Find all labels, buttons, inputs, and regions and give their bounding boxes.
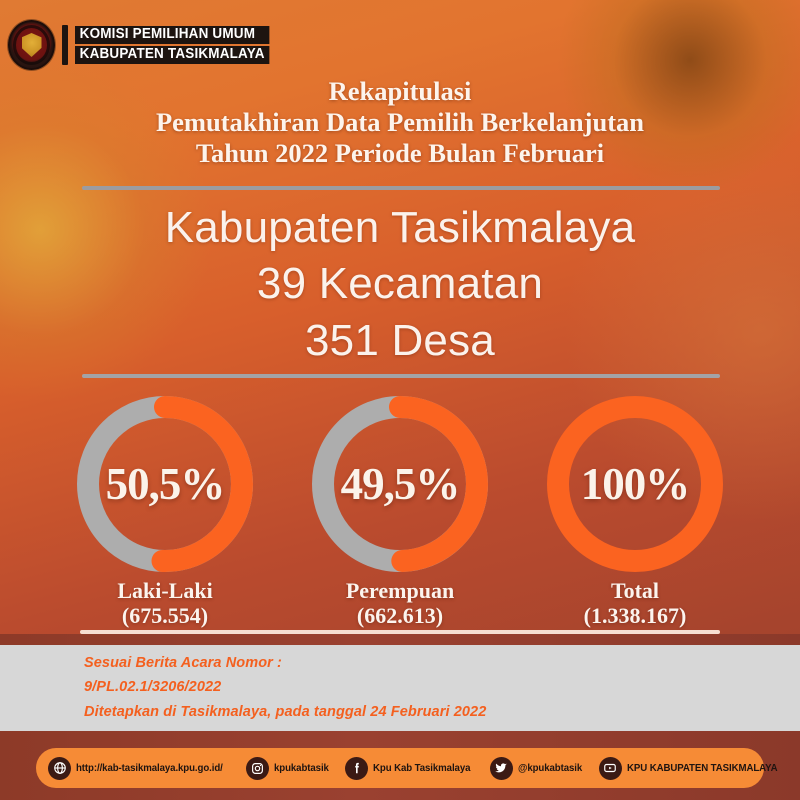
social-item-instagram[interactable]: kpukabtasik xyxy=(246,757,334,780)
title-line-2: Pemutakhiran Data Pemilih Berkelanjutan xyxy=(0,107,800,138)
divider-top xyxy=(82,186,720,190)
facebook-icon xyxy=(345,757,368,780)
twitter-icon xyxy=(490,757,513,780)
social-label-youtube: KPU KABUPATEN TASIKMALAYA xyxy=(627,762,777,774)
footer-band-top xyxy=(0,634,800,645)
donut-cell-perempuan: 49,5% Perempuan (662.613) xyxy=(295,396,505,628)
brand-header: KOMISI PEMILIHAN UMUM KABUPATEN TASIKMAL… xyxy=(8,20,284,70)
donut-percent-perempuan: 49,5% xyxy=(312,396,488,572)
social-label-website: http://kab-tasikmalaya.kpu.go.id/ xyxy=(76,762,223,774)
note-line-2: 9/PL.02.1/3206/2022 xyxy=(84,676,800,699)
social-label-twitter: @kpukabtasik xyxy=(518,762,582,774)
divider-middle xyxy=(82,374,720,378)
brand-line-1: KOMISI PEMILIHAN UMUM xyxy=(75,26,269,44)
title-line-3: Tahun 2022 Periode Bulan Februari xyxy=(0,138,800,169)
social-item-facebook[interactable]: Kpu Kab Tasikmalaya xyxy=(345,757,479,780)
donut-percent-laki-laki: 50,5% xyxy=(77,396,253,572)
social-label-facebook: Kpu Kab Tasikmalaya xyxy=(373,762,470,774)
donut-label-total: Total (1.338.167) xyxy=(584,579,687,628)
donut-count-perempuan: (662.613) xyxy=(346,604,454,629)
brand-wordmark: KOMISI PEMILIHAN UMUM KABUPATEN TASIKMAL… xyxy=(75,26,284,64)
note-line-3: Ditetapkan di Tasikmalaya, pada tanggal … xyxy=(84,701,800,724)
donut-label-laki-laki: Laki-Laki (675.554) xyxy=(117,579,212,628)
social-links-bar: http://kab-tasikmalaya.kpu.go.id/ kpukab… xyxy=(36,748,764,788)
social-item-twitter[interactable]: @kpukabtasik xyxy=(490,757,588,780)
infographic-poster: KOMISI PEMILIHAN UMUM KABUPATEN TASIKMAL… xyxy=(0,0,800,800)
youtube-icon xyxy=(599,757,622,780)
donut-chart-group: 50,5% Laki-Laki (675.554) 49,5% Perempua… xyxy=(60,396,740,626)
donut-cell-laki-laki: 50,5% Laki-Laki (675.554) xyxy=(60,396,270,628)
instagram-icon xyxy=(246,757,269,780)
donut-name-laki-laki: Laki-Laki xyxy=(117,578,212,603)
donut-cell-total: 100% Total (1.338.167) xyxy=(530,396,740,628)
donut-chart-laki-laki: 50,5% xyxy=(77,396,253,572)
donut-count-laki-laki: (675.554) xyxy=(117,604,212,629)
title-line-1: Rekapitulasi xyxy=(0,76,800,107)
note-line-1: Sesuai Berita Acara Nomor : xyxy=(84,652,800,675)
donut-count-total: (1.338.167) xyxy=(584,604,687,629)
region-districts: 39 Kecamatan xyxy=(0,256,800,312)
social-item-youtube[interactable]: KPU KABUPATEN TASIKMALAYA xyxy=(599,757,791,780)
donut-label-perempuan: Perempuan (662.613) xyxy=(346,579,454,628)
kpu-garuda-emblem-icon xyxy=(8,20,55,70)
donut-percent-total: 100% xyxy=(547,396,723,572)
legal-note-box: Sesuai Berita Acara Nomor : 9/PL.02.1/32… xyxy=(0,645,800,731)
page-title: Rekapitulasi Pemutakhiran Data Pemilih B… xyxy=(0,76,800,169)
region-summary: Kabupaten Tasikmalaya 39 Kecamatan 351 D… xyxy=(0,200,800,369)
globe-icon xyxy=(48,757,71,780)
donut-name-perempuan: Perempuan xyxy=(346,578,454,603)
brand-divider-bar xyxy=(62,25,68,65)
social-item-website[interactable]: http://kab-tasikmalaya.kpu.go.id/ xyxy=(48,757,235,780)
social-label-instagram: kpukabtasik xyxy=(274,762,329,774)
region-name: Kabupaten Tasikmalaya xyxy=(0,200,800,256)
brand-line-2: KABUPATEN TASIKMALAYA xyxy=(75,46,269,64)
donut-name-total: Total xyxy=(611,578,659,603)
donut-chart-total: 100% xyxy=(547,396,723,572)
donut-chart-perempuan: 49,5% xyxy=(312,396,488,572)
region-villages: 351 Desa xyxy=(0,313,800,369)
